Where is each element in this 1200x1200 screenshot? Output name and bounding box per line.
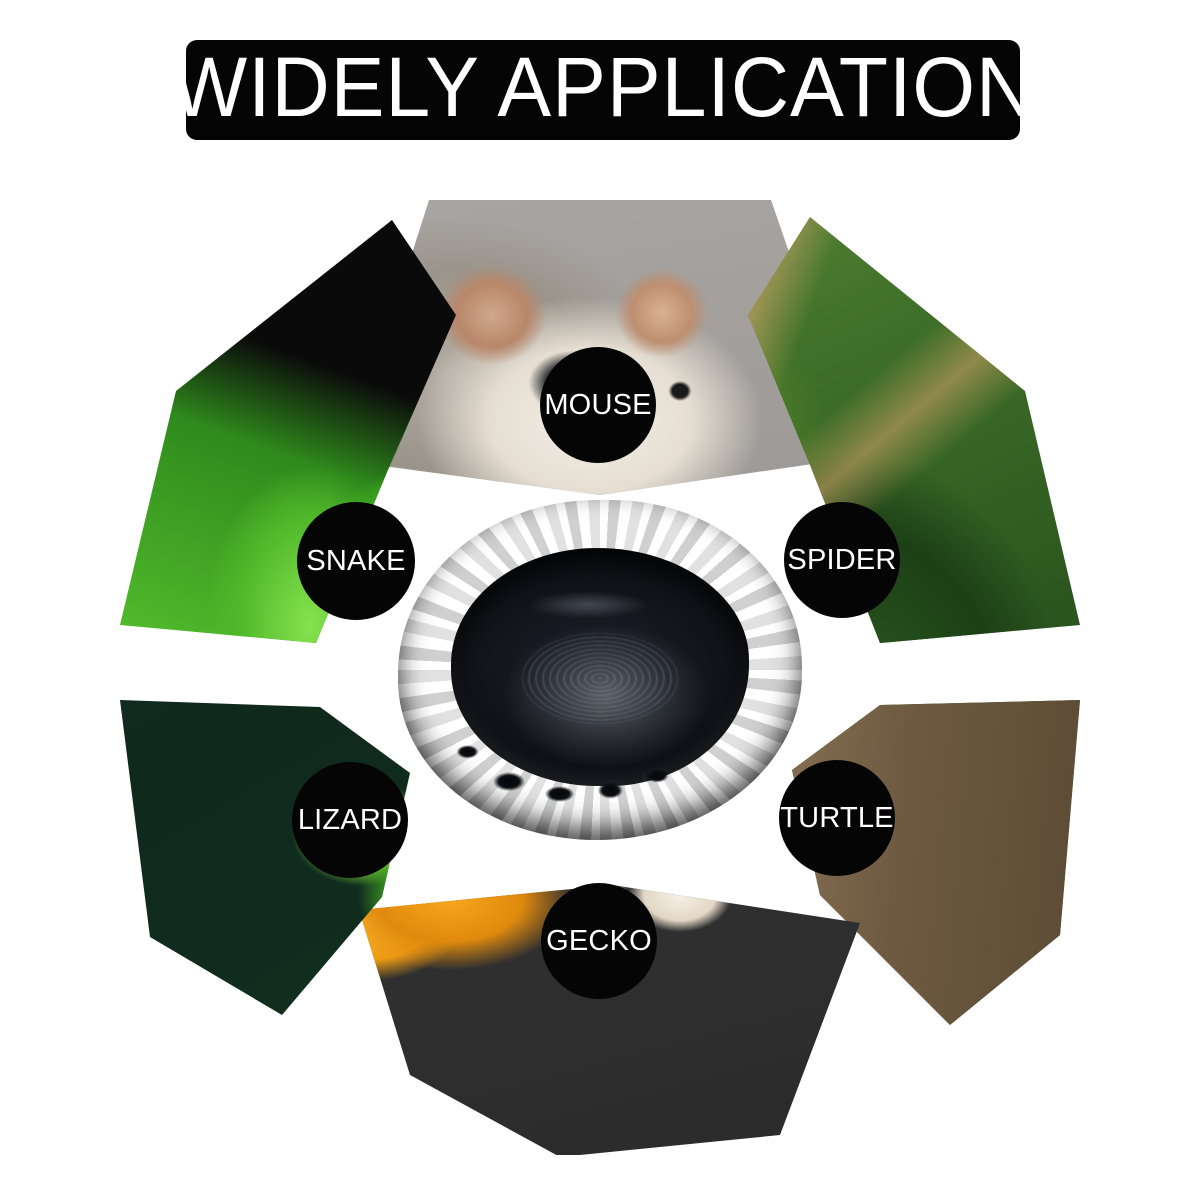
label-badge-turtle-text: TURTLE (780, 804, 893, 833)
page-title: WIDELY APPLICATION (171, 45, 1035, 135)
title-banner: WIDELY APPLICATION (186, 40, 1020, 140)
label-badge-gecko[interactable]: GECKO (541, 883, 657, 999)
product-image (398, 500, 802, 840)
bowl-basin (451, 548, 750, 786)
label-badge-lizard[interactable]: LIZARD (292, 762, 408, 878)
label-badge-gecko-text: GECKO (546, 927, 652, 956)
bowl-highlight (504, 586, 671, 624)
bowl-pit (596, 782, 628, 802)
label-badge-spider[interactable]: SPIDER (784, 502, 900, 618)
bowl-pit (543, 786, 579, 806)
bowl-swirl-texture (522, 633, 677, 723)
label-badge-lizard-text: LIZARD (298, 806, 402, 835)
label-badge-mouse[interactable]: MOUSE (540, 347, 656, 463)
bowl-pit (644, 769, 672, 786)
label-badge-spider-text: SPIDER (787, 546, 896, 575)
bowl-pit (491, 772, 531, 796)
label-badge-turtle[interactable]: TURTLE (779, 760, 895, 876)
infographic-canvas: WIDELY APPLICATION (0, 0, 1200, 1200)
bowl-pit (455, 745, 483, 762)
label-badge-snake-text: SNAKE (306, 547, 405, 576)
label-badge-snake[interactable]: SNAKE (297, 502, 415, 620)
label-badge-mouse-text: MOUSE (544, 391, 651, 420)
